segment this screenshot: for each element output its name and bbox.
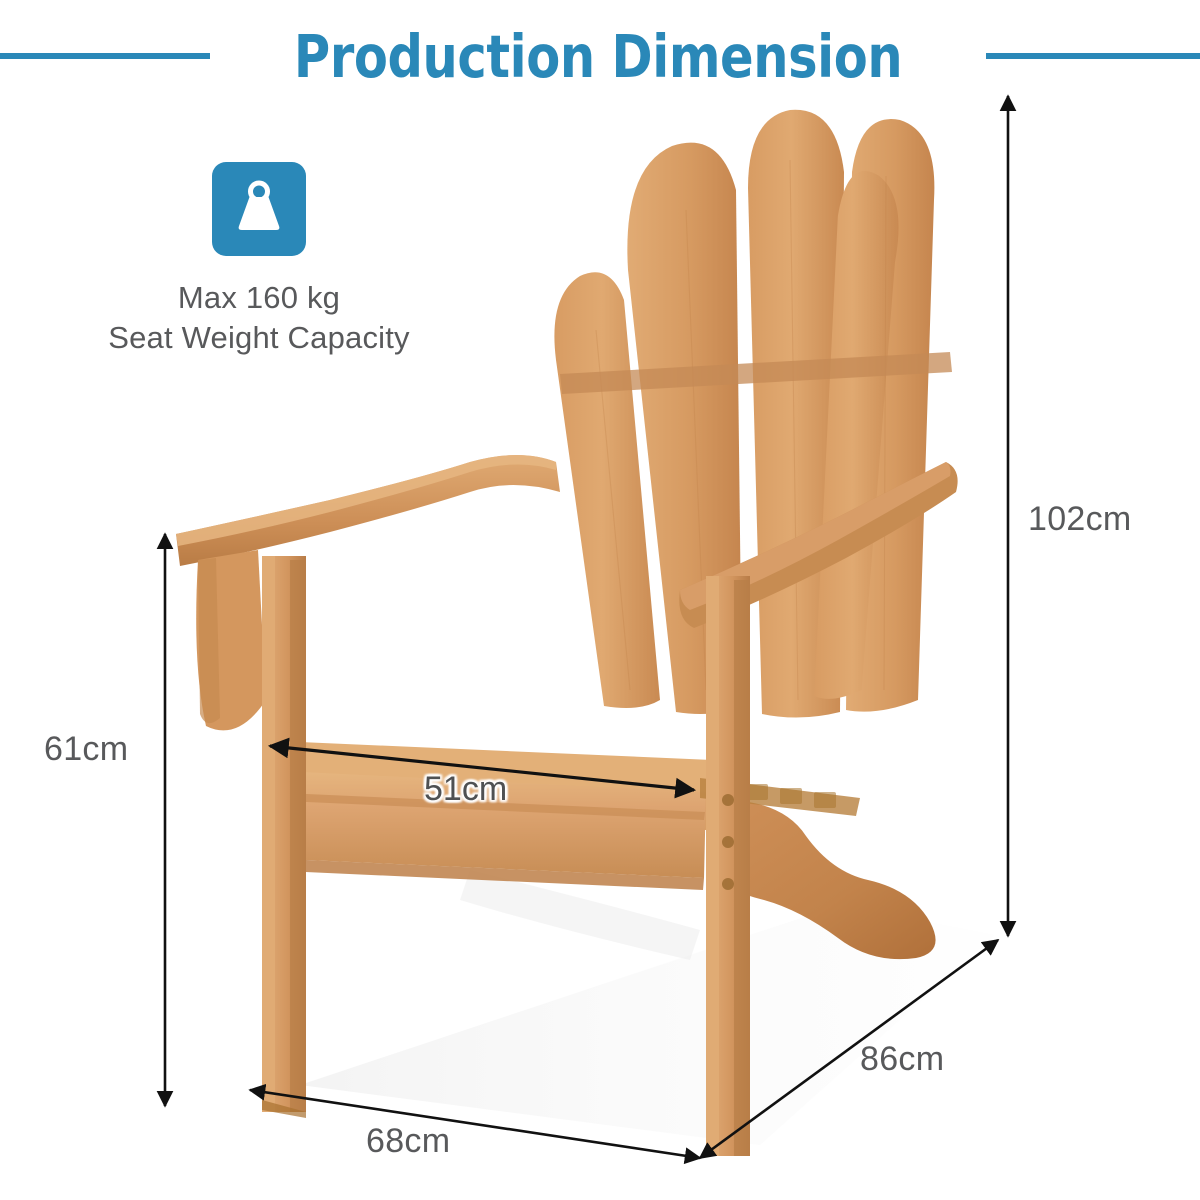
- chair-left-arm: [176, 455, 560, 566]
- chair-front-right-leg: [706, 576, 750, 1156]
- dimension-label-depth: 86cm: [860, 1040, 944, 1079]
- dimension-label-seat-width: 51cm: [424, 770, 507, 809]
- dimension-label-seat-height: 61cm: [44, 730, 128, 769]
- dimension-label-height: 102cm: [1028, 500, 1132, 539]
- chair-front-left-leg: [262, 556, 306, 1118]
- chair-arm-support: [196, 550, 266, 730]
- product-dimension-diagram: Production Dimension Max 160 kg Seat Wei…: [0, 0, 1200, 1200]
- chair-back-slats: [554, 110, 952, 718]
- chair-illustration: [0, 0, 1200, 1200]
- dimension-label-width: 68cm: [366, 1122, 450, 1161]
